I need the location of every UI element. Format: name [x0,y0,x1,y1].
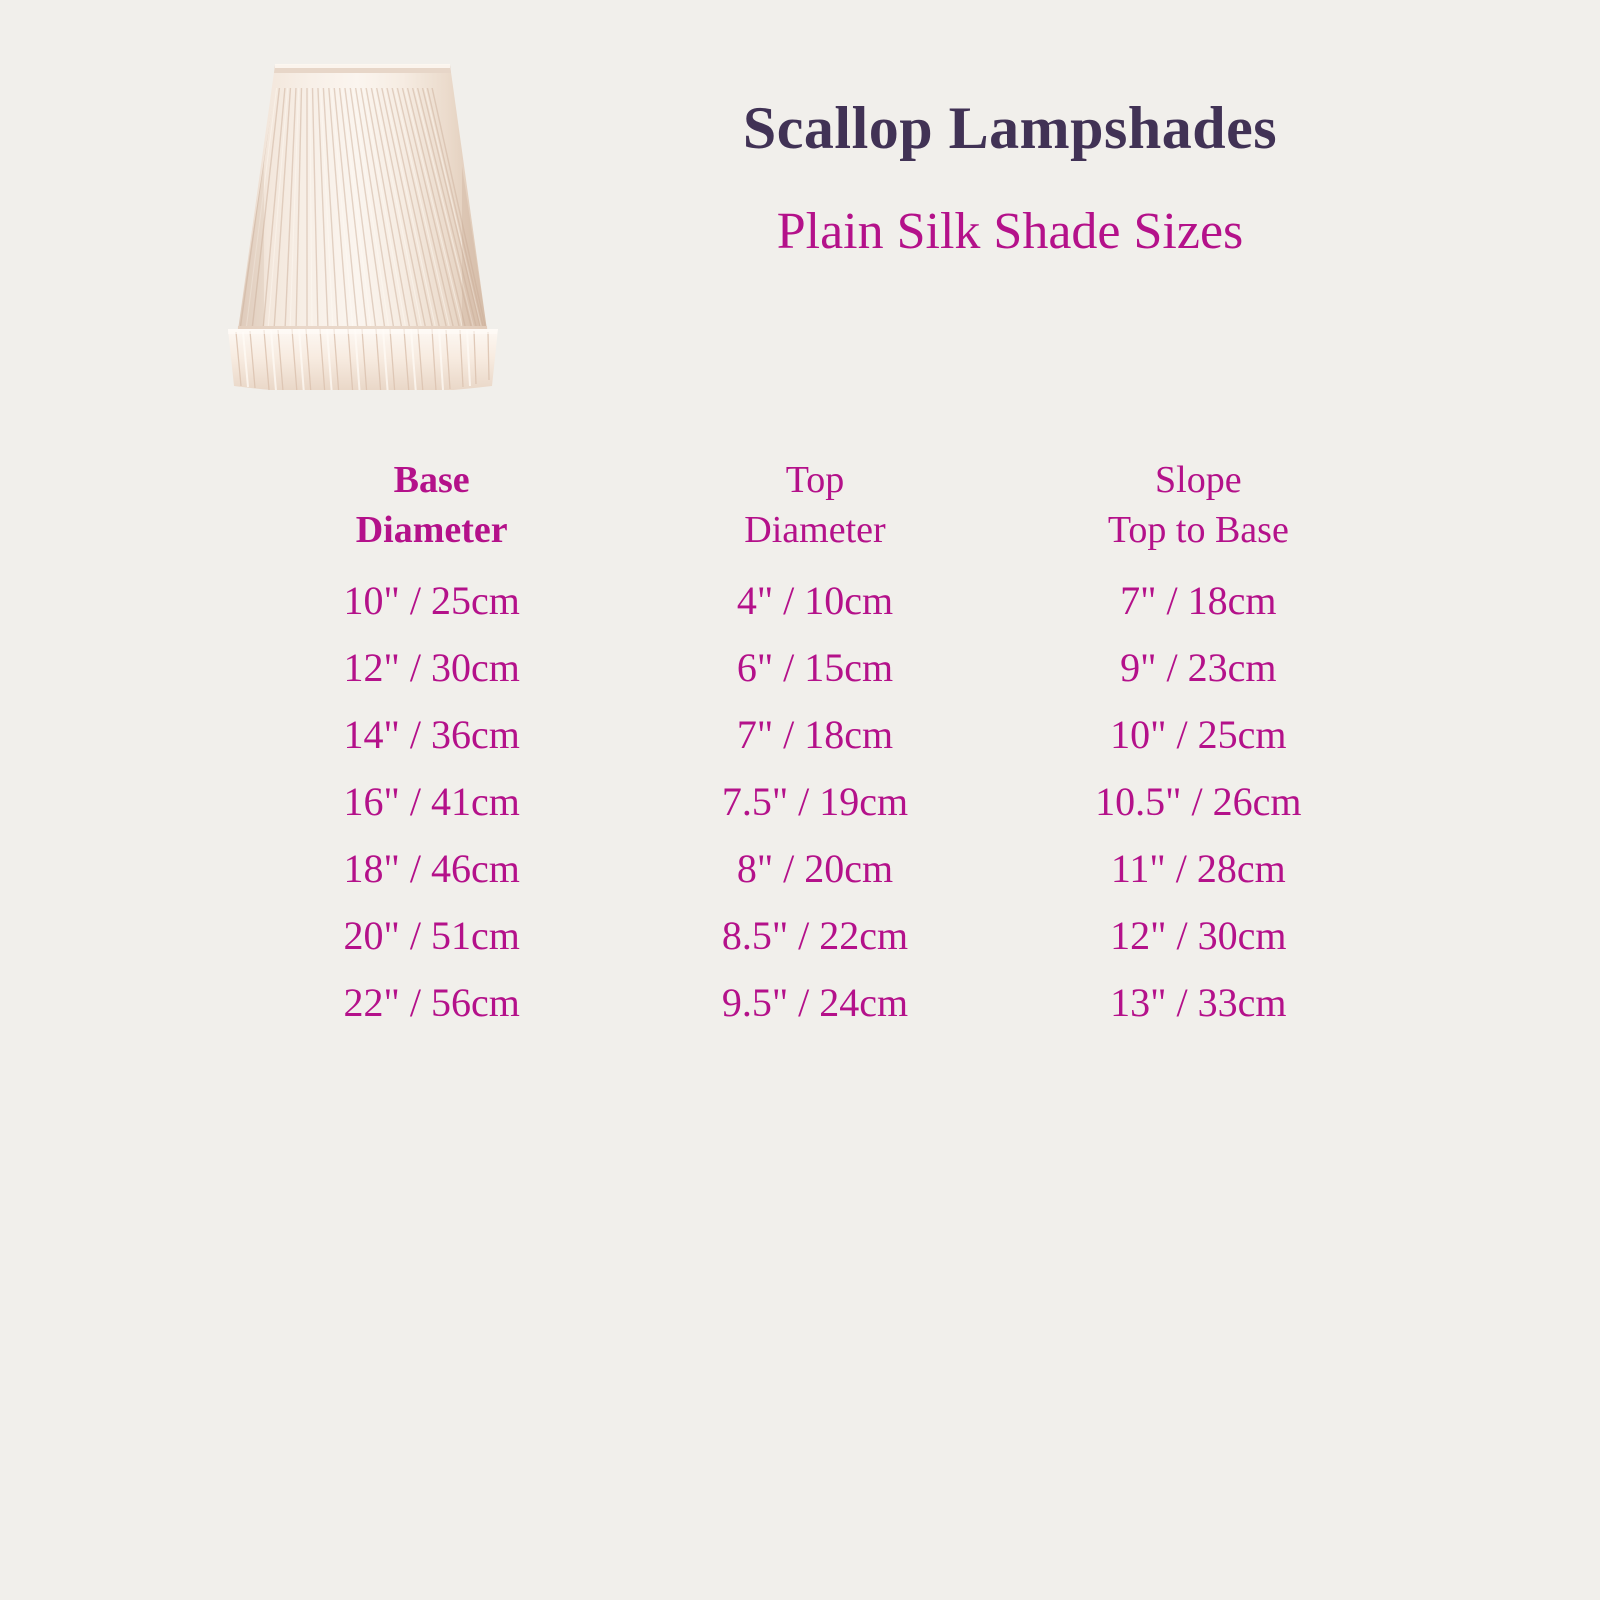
lampshade-product-image [130,30,590,390]
column-slope-top-to-base: Slope Top to Base 7" / 18cm 9" / 23cm 10… [1007,455,1390,1036]
column-base-diameter: Base Diameter 10" / 25cm 12" / 30cm 14" … [240,455,623,1036]
table-cell: 10" / 25cm [344,567,520,634]
table-cell: 6" / 15cm [737,634,893,701]
table-cell: 13" / 33cm [1110,969,1286,1036]
table-cell: 18" / 46cm [344,835,520,902]
size-chart-table: Base Diameter 10" / 25cm 12" / 30cm 14" … [240,455,1390,1036]
title-block: Scallop Lampshades Plain Silk Shade Size… [600,96,1420,260]
table-cell: 7" / 18cm [737,701,893,768]
column-header-line1: Slope [1108,455,1289,505]
table-cell: 14" / 36cm [344,701,520,768]
table-cell: 11" / 28cm [1111,835,1286,902]
column-header-top-diameter: Top Diameter [744,455,885,567]
scallop-ruffle-trim [228,329,498,390]
column-header-line2: Top to Base [1108,505,1289,555]
column-header-line1: Top [744,455,885,505]
column-top-diameter: Top Diameter 4" / 10cm 6" / 15cm 7" / 18… [623,455,1006,1036]
column-header-line2: Diameter [744,505,885,555]
page-title: Scallop Lampshades [600,96,1420,161]
table-cell: 16" / 41cm [344,768,520,835]
table-cell: 7.5" / 19cm [722,768,908,835]
table-cell: 10" / 25cm [1110,701,1286,768]
table-cell: 22" / 56cm [344,969,520,1036]
column-header-line1: Base [356,455,508,505]
shade-body [238,64,490,335]
table-cell: 4" / 10cm [737,567,893,634]
table-cell: 12" / 30cm [344,634,520,701]
table-cell: 8" / 20cm [737,835,893,902]
table-cell: 9" / 23cm [1120,634,1276,701]
table-cell: 12" / 30cm [1110,902,1286,969]
table-cell: 9.5" / 24cm [722,969,908,1036]
column-header-base-diameter: Base Diameter [356,455,508,567]
page-subtitle: Plain Silk Shade Sizes [600,161,1420,260]
table-cell: 20" / 51cm [344,902,520,969]
table-cell: 7" / 18cm [1120,567,1276,634]
hero-section: Scallop Lampshades Plain Silk Shade Size… [0,0,1600,410]
table-cell: 8.5" / 22cm [722,902,908,969]
table-cell: 10.5" / 26cm [1095,768,1301,835]
column-header-line2: Diameter [356,505,508,555]
lampshade-illustration [130,30,590,390]
column-header-slope: Slope Top to Base [1108,455,1289,567]
